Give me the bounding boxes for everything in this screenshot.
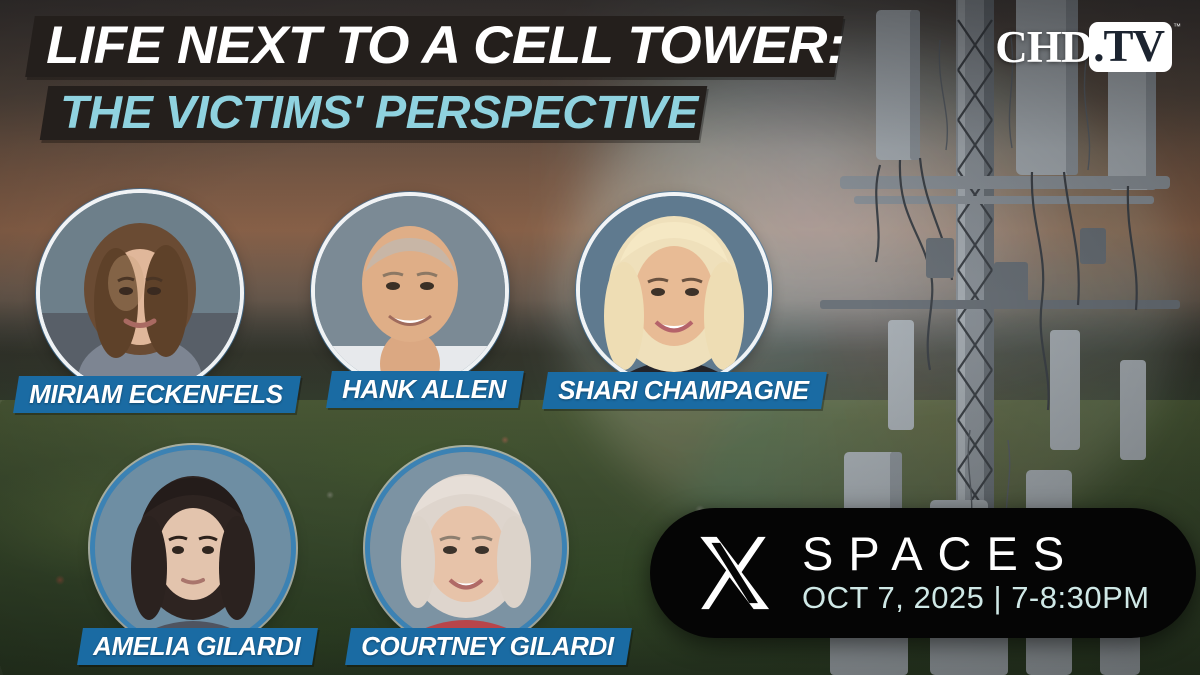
speaker-name-text: AMELIA GILARDI bbox=[93, 632, 300, 660]
portrait-photo bbox=[370, 452, 562, 644]
x-spaces-banner[interactable]: SPACES OCT 7, 2025 | 7-8:30PM bbox=[650, 508, 1196, 638]
avatar-courtney-gilardi bbox=[370, 452, 562, 644]
x-spaces-label: SPACES bbox=[802, 530, 1150, 578]
speaker-name-text: HANK ALLEN bbox=[342, 375, 506, 403]
speaker-card-hank-allen: HANK ALLEN bbox=[315, 196, 505, 386]
speaker-name-badge: SHARI CHAMPAGNE bbox=[542, 372, 827, 409]
speaker-name-badge: AMELIA GILARDI bbox=[77, 628, 318, 665]
speaker-name-text: MIRIAM ECKENFELS bbox=[29, 380, 283, 408]
avatar-amelia-gilardi bbox=[95, 450, 291, 646]
title-line-1: LIFE NEXT TO A CELL TOWER: bbox=[25, 16, 844, 77]
portrait-photo bbox=[95, 450, 291, 646]
portrait-photo bbox=[580, 196, 768, 384]
chd-tv-badge: .TV ™ bbox=[1089, 22, 1172, 72]
chd-brand-text: CHD bbox=[995, 25, 1092, 70]
speaker-name-badge: HANK ALLEN bbox=[326, 371, 524, 408]
speaker-name-badge: MIRIAM ECKENFELS bbox=[13, 376, 300, 413]
speaker-card-amelia-gilardi: AMELIA GILARDI bbox=[95, 450, 291, 646]
avatar-hank-allen bbox=[315, 196, 505, 386]
speaker-name-text: SHARI CHAMPAGNE bbox=[558, 376, 809, 404]
avatar-miriam-eckenfels bbox=[40, 193, 240, 393]
title-line-2-text: THE VICTIMS' PERSPECTIVE bbox=[60, 89, 698, 135]
x-spaces-datetime: OCT 7, 2025 | 7-8:30PM bbox=[802, 581, 1150, 616]
chd-tv-logo[interactable]: CHD .TV ™ bbox=[995, 22, 1172, 72]
speaker-card-courtney-gilardi: COURTNEY GILARDI bbox=[370, 452, 562, 644]
speaker-card-miriam-eckenfels: MIRIAM ECKENFELS bbox=[40, 193, 240, 393]
portrait-photo bbox=[315, 196, 505, 386]
promo-poster: LIFE NEXT TO A CELL TOWER: THE VICTIMS' … bbox=[0, 0, 1200, 675]
title-line-2: THE VICTIMS' PERSPECTIVE bbox=[40, 86, 708, 140]
chd-tv-suffix-text: .TV bbox=[1093, 21, 1164, 71]
speaker-card-shari-champagne: SHARI CHAMPAGNE bbox=[580, 196, 768, 384]
title-line-1-text: LIFE NEXT TO A CELL TOWER: bbox=[46, 19, 844, 72]
x-spaces-text-group: SPACES OCT 7, 2025 | 7-8:30PM bbox=[802, 530, 1150, 616]
speaker-name-badge: COURTNEY GILARDI bbox=[345, 628, 632, 665]
avatar-shari-champagne bbox=[580, 196, 768, 384]
speaker-name-text: COURTNEY GILARDI bbox=[361, 632, 614, 660]
trademark-symbol: ™ bbox=[1173, 22, 1181, 31]
portrait-photo bbox=[40, 193, 240, 393]
x-logo-icon bbox=[690, 530, 776, 616]
